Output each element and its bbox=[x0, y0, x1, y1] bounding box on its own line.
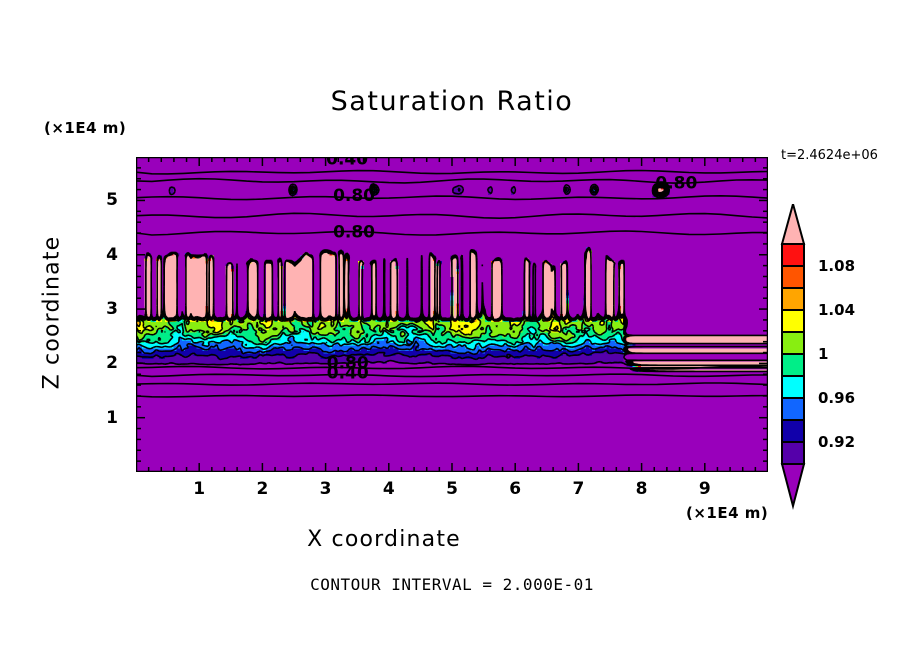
y-tick-label: 4 bbox=[106, 245, 118, 265]
colorbar-tick-label: 1.04 bbox=[818, 301, 855, 319]
x-axis-title: X coordinate bbox=[0, 527, 768, 552]
page-title: Saturation Ratio bbox=[0, 86, 904, 117]
y-tick-label: 2 bbox=[106, 353, 118, 373]
x-tick-label: 8 bbox=[636, 479, 648, 499]
contour-interval-caption: CONTOUR INTERVAL = 2.000E-01 bbox=[0, 575, 904, 594]
y-tick-label: 3 bbox=[106, 299, 118, 319]
x-tick-label: 2 bbox=[256, 479, 268, 499]
x-axis-unit-label: (×1E4 m) bbox=[686, 504, 768, 522]
x-tick-label: 9 bbox=[699, 479, 711, 499]
time-annotation: t=2.4624e+06 bbox=[781, 148, 878, 163]
x-tick-label: 7 bbox=[572, 479, 584, 499]
colorbar-tick-label: 0.96 bbox=[818, 389, 855, 407]
x-tick-label: 4 bbox=[383, 479, 395, 499]
x-tick-label: 1 bbox=[193, 479, 205, 499]
y-axis-unit-label: (×1E4 m) bbox=[44, 119, 126, 137]
colorbar-tick-label: 0.92 bbox=[818, 433, 855, 451]
x-tick-label: 5 bbox=[446, 479, 458, 499]
y-axis-title: Z coordinate bbox=[40, 223, 65, 403]
colorbar-tick-label: 1.08 bbox=[818, 257, 855, 275]
contour-plot: 0.400.800.800.800.800.40 bbox=[136, 157, 768, 472]
colorbar-tick-label: 1 bbox=[818, 345, 828, 363]
colorbar bbox=[778, 204, 808, 529]
y-tick-label: 1 bbox=[106, 408, 118, 428]
x-tick-label: 6 bbox=[509, 479, 521, 499]
y-tick-label: 5 bbox=[106, 190, 118, 210]
x-tick-label: 3 bbox=[320, 479, 332, 499]
